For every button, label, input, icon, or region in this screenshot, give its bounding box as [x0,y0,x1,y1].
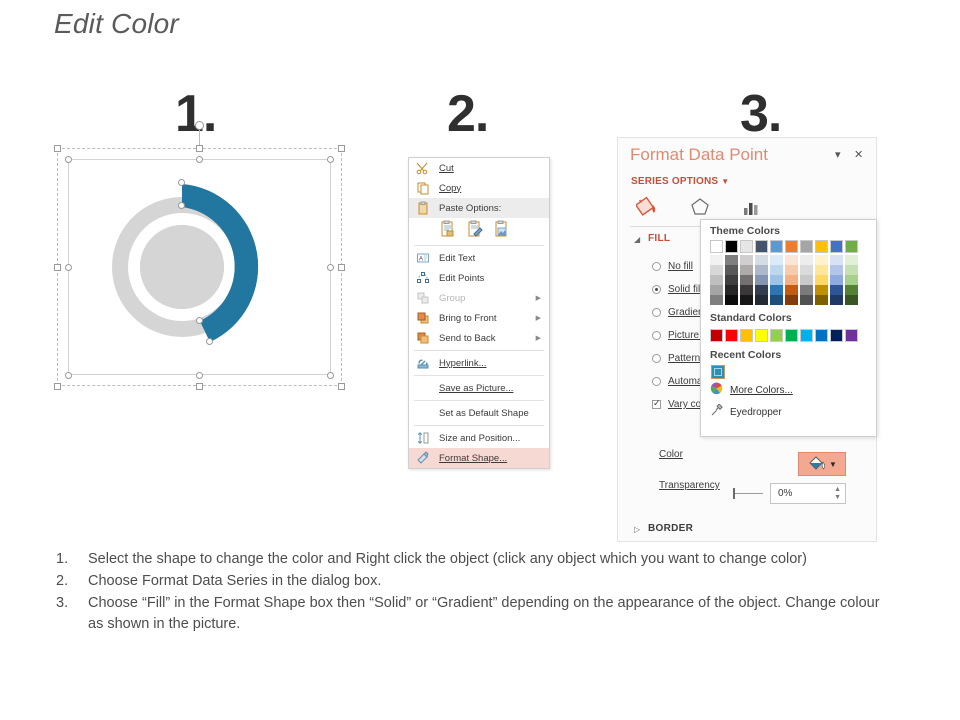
theme-color-shade-swatch[interactable] [785,285,798,295]
theme-color-swatch[interactable] [725,240,738,253]
scissors-icon [416,161,430,175]
standard-color-swatch[interactable] [830,329,843,342]
theme-color-shade-swatch[interactable] [800,255,813,265]
radio-pattern-fill-indicator[interactable] [652,354,661,363]
spinner-up-icon[interactable]: ▲ [834,486,841,494]
theme-color-shade-swatch[interactable] [830,295,843,305]
transparency-row-label: Transparency [659,480,720,491]
checkbox-vary-colors-indicator[interactable] [652,400,661,409]
theme-color-swatch[interactable] [845,240,858,253]
transparency-value: 0% [778,488,792,499]
instruction-number: 3. [56,593,88,635]
standard-color-swatch[interactable] [815,329,828,342]
standard-color-swatch[interactable] [710,329,723,342]
theme-color-shade-swatch[interactable] [725,295,738,305]
theme-color-shade-swatch[interactable] [845,275,858,285]
menu-item-send-to-back[interactable]: Send to Back ▶ [409,328,549,348]
shape-effects-icon[interactable] [688,196,712,221]
radio-no-fill-indicator[interactable] [652,262,661,271]
resize-handle-nw[interactable] [54,145,61,152]
menu-item-set-default-shape-label: Set as Default Shape [439,408,529,419]
radio-solid-fill[interactable]: Solid fill [652,284,702,295]
submenu-arrow-group: ▶ [536,294,541,302]
spinner-arrows[interactable]: ▲ ▼ [834,486,841,502]
menu-item-format-shape[interactable]: Format Shape... [409,448,549,468]
theme-color-shade-swatch[interactable] [830,255,843,265]
theme-color-swatch[interactable] [740,240,753,253]
submenu-arrow-bring-front: ▶ [536,314,541,322]
rotate-stem [199,129,200,145]
series-options-label[interactable]: SERIES OPTIONS ▼ [631,176,729,187]
theme-color-shade-swatch[interactable] [830,275,843,285]
color-row-label: Color [659,449,683,460]
menu-item-edit-points[interactable]: Edit Points [409,268,549,288]
eyedropper-label: Eyedropper [730,407,782,418]
theme-color-shade-swatch[interactable] [815,275,828,285]
format-pane-tabs[interactable] [636,196,764,221]
selected-shape-panel[interactable] [57,148,342,386]
color-wheel-icon [710,382,723,398]
clipboard-icon [416,201,430,215]
border-expand-triangle[interactable]: ▷ [634,525,640,534]
format-shape-icon [416,451,430,465]
standard-colors-row[interactable] [701,327,876,342]
theme-color-column[interactable] [710,240,723,305]
theme-color-shade-swatch[interactable] [725,255,738,265]
theme-color-shade-swatch[interactable] [845,295,858,305]
resize-handle-se[interactable] [338,383,345,390]
standard-color-swatch[interactable] [845,329,858,342]
radio-no-fill[interactable]: No fill [652,261,693,272]
menu-item-hyperlink-label: Hyperlink... [439,358,487,369]
theme-color-swatch[interactable] [785,240,798,253]
fill-section-header[interactable]: FILL [648,233,670,244]
theme-color-swatch[interactable] [815,240,828,253]
transparency-slider-thumb[interactable] [733,488,735,499]
copy-icon [416,181,430,195]
menu-item-bring-to-front[interactable]: Bring to Front ▶ [409,308,549,328]
theme-color-shade-swatch[interactable] [785,295,798,305]
theme-color-shade-swatch[interactable] [785,275,798,285]
theme-color-shade-swatch[interactable] [770,265,783,275]
color-button-caret[interactable]: ▼ [829,460,837,469]
instruction-item: 3. Choose “Fill” in the Format Shape box… [56,593,896,635]
theme-color-shade-swatch[interactable] [710,295,723,305]
menu-separator-5 [414,425,544,426]
instruction-number: 1. [56,549,88,570]
theme-color-column[interactable] [830,240,843,305]
theme-color-shade-swatch[interactable] [770,275,783,285]
theme-color-shade-swatch[interactable] [755,265,768,275]
border-section-header[interactable]: BORDER [648,523,693,534]
menu-item-group-label: Group [439,293,465,304]
theme-color-shade-swatch[interactable] [785,265,798,275]
theme-color-column[interactable] [800,240,813,305]
theme-color-shade-swatch[interactable] [830,265,843,275]
color-dropdown[interactable]: Theme Colors Standard Colors Recent Colo… [700,219,877,437]
paste-picture-icon[interactable] [493,220,510,239]
instruction-text: Choose Format Data Series in the dialog … [88,571,896,592]
theme-color-shade-swatch[interactable] [815,295,828,305]
paste-options-icons[interactable] [409,218,549,243]
standard-color-swatch[interactable] [725,329,738,342]
paste-merge-icon[interactable] [466,220,483,239]
inner-handle-nw[interactable] [65,156,72,163]
instruction-number: 2. [56,571,88,592]
standard-color-swatch[interactable] [800,329,813,342]
radio-automatic-fill-indicator[interactable] [652,377,661,386]
eyedropper-icon [710,404,723,420]
eyedropper-item[interactable]: Eyedropper [701,401,876,423]
instruction-text: Choose “Fill” in the Format Shape box th… [88,593,896,635]
menu-item-bring-to-front-label: Bring to Front [439,313,497,324]
theme-colors-header: Theme Colors [701,220,876,240]
theme-color-shade-swatch[interactable] [770,255,783,265]
standard-color-swatch[interactable] [770,329,783,342]
theme-color-shade-swatch[interactable] [740,255,753,265]
resize-handle-n[interactable] [196,145,203,152]
instruction-item: 1. Select the shape to change the color … [56,549,896,570]
theme-color-shade-swatch[interactable] [845,265,858,275]
chevron-down-icon[interactable]: ▼ [721,177,729,186]
menu-item-format-shape-label: Format Shape... [439,453,507,464]
slide-canvas: Edit Color 1. 2. 3. [0,0,960,720]
svg-text:A: A [419,257,423,263]
donut-chart[interactable] [79,162,319,372]
segment-handle-inner-top[interactable] [178,202,185,209]
theme-color-column[interactable] [740,240,753,305]
theme-color-shade-swatch[interactable] [740,265,753,275]
theme-color-column[interactable] [755,240,768,305]
theme-color-shade-swatch[interactable] [755,275,768,285]
theme-color-shade-swatch[interactable] [785,255,798,265]
menu-separator-3 [414,375,544,376]
hyperlink-icon [416,356,430,370]
theme-color-swatch[interactable] [710,240,723,253]
radio-no-fill-label: No fill [668,261,693,272]
standard-color-swatch[interactable] [755,329,768,342]
edit-points-icon [416,271,430,285]
menu-item-size-and-position[interactable]: Size and Position... [409,428,549,448]
instruction-text: Select the shape to change the color and… [88,549,896,570]
theme-color-shade-swatch[interactable] [710,265,723,275]
menu-item-hyperlink[interactable]: Hyperlink... [409,353,549,373]
theme-color-shade-swatch[interactable] [740,275,753,285]
step-number-3: 3. [740,84,781,144]
standard-color-swatch[interactable] [785,329,798,342]
paint-bucket-icon [807,455,827,473]
transparency-slider-track[interactable] [735,493,763,494]
donut-chart-svg [79,162,319,372]
theme-color-shade-swatch[interactable] [725,285,738,295]
series-options-text: SERIES OPTIONS [631,176,718,187]
standard-colors-header: Standard Colors [701,305,876,327]
theme-color-column[interactable] [770,240,783,305]
theme-color-shade-swatch[interactable] [770,285,783,295]
menu-item-group: Group ▶ [409,288,549,308]
theme-color-shade-swatch[interactable] [845,285,858,295]
instructions-list: 1. Select the shape to change the color … [56,549,896,636]
inner-handle-sw[interactable] [65,372,72,379]
donut-inner-disc [140,225,224,309]
size-position-icon [416,431,430,445]
fill-expand-triangle[interactable]: ◢ [634,235,640,244]
theme-color-shade-swatch[interactable] [710,255,723,265]
standard-color-swatch[interactable] [740,329,753,342]
radio-solid-fill-indicator[interactable] [652,285,661,294]
bring-front-icon [416,311,430,325]
menu-item-edit-text-label: Edit Text [439,253,475,264]
chart-options-icon[interactable] [740,196,764,221]
radio-gradient-fill-indicator[interactable] [652,308,661,317]
resize-handle-s[interactable] [196,383,203,390]
spinner-down-icon[interactable]: ▼ [834,494,841,502]
more-colors-item[interactable]: More Colors... [701,379,876,401]
menu-separator-1 [414,245,544,246]
theme-color-shade-swatch[interactable] [815,255,828,265]
transparency-input[interactable]: 0% ▲ ▼ [770,483,846,504]
resize-handle-w[interactable] [54,264,61,271]
theme-color-shade-swatch[interactable] [710,285,723,295]
theme-color-shade-swatch[interactable] [725,265,738,275]
resize-handle-sw[interactable] [54,383,61,390]
more-colors-label: More Colors... [730,385,793,396]
menu-item-cut[interactable]: Cut [409,158,549,178]
pane-options-caret[interactable]: ▾ [835,148,841,161]
menu-item-copy[interactable]: Copy [409,178,549,198]
theme-color-shade-swatch[interactable] [710,275,723,285]
format-pane-title: Format Data Point [630,145,768,165]
theme-color-column[interactable] [815,240,828,305]
menu-item-copy-label: Copy [439,183,461,194]
inner-handle-ne[interactable] [327,156,334,163]
step-number-1: 1. [175,84,216,144]
theme-color-column[interactable] [785,240,798,305]
theme-color-swatch[interactable] [770,240,783,253]
segment-handle-top[interactable] [178,179,185,186]
menu-item-send-to-back-label: Send to Back [439,333,496,344]
menu-item-size-and-position-label: Size and Position... [439,433,520,444]
step-number-2: 2. [447,84,488,144]
menu-item-edit-points-label: Edit Points [439,273,484,284]
menu-separator-4 [414,400,544,401]
theme-color-shade-swatch[interactable] [800,265,813,275]
menu-item-cut-label: Cut [439,163,454,174]
theme-color-shade-swatch[interactable] [815,265,828,275]
rotate-handle[interactable] [195,121,204,130]
fill-bucket-icon[interactable] [636,196,660,221]
context-menu[interactable]: Cut Copy Paste Options: [408,157,550,469]
theme-color-column[interactable] [725,240,738,305]
theme-color-shade-swatch[interactable] [725,275,738,285]
theme-color-shade-swatch[interactable] [755,285,768,295]
inner-handle-e[interactable] [327,264,334,271]
segment-handle-inner-bottom[interactable] [196,317,203,324]
menu-item-paste-options-label: Paste Options: [439,203,501,214]
close-icon[interactable]: ✕ [854,148,863,161]
menu-item-edit-text[interactable]: A Edit Text [409,248,549,268]
page-title: Edit Color [54,8,179,40]
theme-color-shade-swatch[interactable] [800,295,813,305]
theme-color-shade-swatch[interactable] [740,285,753,295]
menu-item-save-as-picture-label: Save as Picture... [439,383,513,394]
instruction-item: 2. Choose Format Data Series in the dial… [56,571,896,592]
theme-color-shade-swatch[interactable] [815,285,828,295]
send-back-icon [416,331,430,345]
theme-color-shade-swatch[interactable] [800,275,813,285]
inner-handle-s[interactable] [196,372,203,379]
radio-picture-fill-indicator[interactable] [652,331,661,340]
theme-color-shade-swatch[interactable] [830,285,843,295]
menu-item-save-as-picture[interactable]: Save as Picture... [409,378,549,398]
menu-item-paste-options[interactable]: Paste Options: [409,198,549,218]
inner-handle-w[interactable] [65,264,72,271]
recent-color-swatch[interactable] [711,365,725,379]
menu-separator-2 [414,350,544,351]
resize-handle-e[interactable] [338,264,345,271]
recent-colors-header: Recent Colors [701,342,876,364]
resize-handle-ne[interactable] [338,145,345,152]
theme-color-column[interactable] [845,240,858,305]
radio-solid-fill-label: Solid fill [668,284,702,295]
inner-handle-se[interactable] [327,372,334,379]
theme-color-shade-swatch[interactable] [740,295,753,305]
theme-color-swatch[interactable] [755,240,768,253]
theme-color-shade-swatch[interactable] [755,255,768,265]
submenu-arrow-send-back: ▶ [536,334,541,342]
edit-text-icon: A [416,251,430,265]
theme-color-shade-swatch[interactable] [770,295,783,305]
theme-color-swatch[interactable] [800,240,813,253]
theme-color-shade-swatch[interactable] [755,295,768,305]
paste-keep-formatting-icon[interactable] [439,220,456,239]
theme-color-shade-swatch[interactable] [800,285,813,295]
menu-item-set-default-shape[interactable]: Set as Default Shape [409,403,549,423]
theme-colors-grid[interactable] [701,240,876,305]
group-icon [416,291,430,305]
theme-color-swatch[interactable] [830,240,843,253]
fill-color-button[interactable]: ▼ [798,452,846,476]
segment-handle-bottom[interactable] [206,338,213,345]
theme-color-shade-swatch[interactable] [845,255,858,265]
